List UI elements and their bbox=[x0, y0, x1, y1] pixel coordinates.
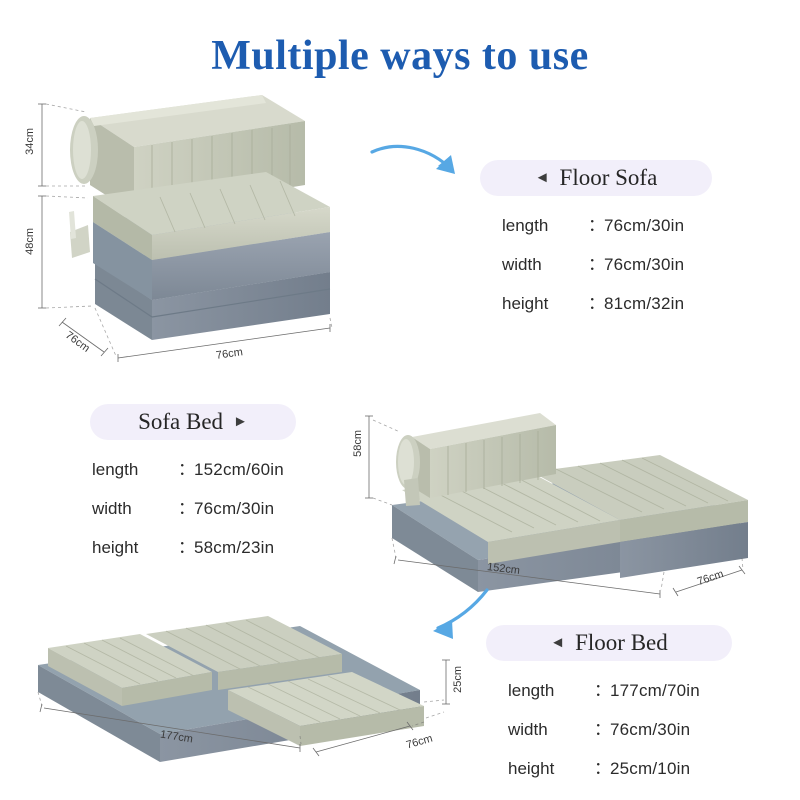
spec-row-length: length ： 177cm/70in bbox=[508, 669, 732, 708]
spec-row-width: width ： 76cm/30in bbox=[92, 487, 324, 526]
spec-row-width: width ： 76cm/30in bbox=[502, 243, 722, 282]
spec-label: height bbox=[92, 538, 178, 558]
spec-colon: ： bbox=[594, 715, 610, 740]
spec-card-floor-sofa-rows: length ： 76cm/30in width ： 76cm/30in hei… bbox=[480, 204, 730, 321]
spec-value: 58cm/23in bbox=[194, 538, 274, 558]
dim-floor-sofa-back-height: 34cm bbox=[24, 128, 36, 155]
spec-label: height bbox=[508, 759, 594, 779]
spec-card-floor-sofa: ◄ Floor Sofa length ： 76cm/30in width ： … bbox=[480, 160, 730, 321]
spec-colon: ： bbox=[594, 676, 610, 701]
spec-colon: ： bbox=[588, 211, 604, 236]
spec-card-sofa-bed-rows: length ： 152cm/60in width ： 76cm/30in he… bbox=[82, 448, 332, 565]
spec-row-height: height ： 25cm/10in bbox=[508, 747, 732, 786]
spec-row-width: width ： 76cm/30in bbox=[508, 708, 732, 747]
spec-card-floor-bed-rows: length ： 177cm/70in width ： 76cm/30in he… bbox=[486, 669, 740, 786]
spec-card-sofa-bed-header[interactable]: Sofa Bed ► bbox=[90, 404, 296, 440]
spec-row-height: height ： 81cm/32in bbox=[502, 282, 722, 321]
spec-label: width bbox=[92, 499, 178, 519]
floor-sofa-illustration bbox=[38, 95, 332, 362]
spec-label: length bbox=[508, 681, 594, 701]
floor-bed-illustration bbox=[38, 616, 450, 766]
spec-colon: ： bbox=[178, 455, 194, 480]
spec-colon: ： bbox=[178, 494, 194, 519]
spec-value: 25cm/10in bbox=[610, 759, 690, 779]
spec-card-sofa-bed-title: Sofa Bed bbox=[138, 409, 223, 435]
spec-row-length: length ： 76cm/30in bbox=[502, 204, 722, 243]
spec-row-length: length ： 152cm/60in bbox=[92, 448, 324, 487]
spec-label: width bbox=[508, 720, 594, 740]
spec-colon: ： bbox=[178, 533, 194, 558]
spec-colon: ： bbox=[588, 289, 604, 314]
poster-canvas: Multiple ways to use bbox=[0, 0, 800, 800]
arrow-to-floor-bed bbox=[433, 590, 487, 639]
spec-card-floor-sofa-title: Floor Sofa bbox=[560, 165, 658, 191]
spec-label: height bbox=[502, 294, 588, 314]
spec-card-floor-sofa-header[interactable]: ◄ Floor Sofa bbox=[480, 160, 712, 196]
spec-value: 76cm/30in bbox=[604, 216, 684, 236]
spec-value: 152cm/60in bbox=[194, 460, 284, 480]
spec-card-sofa-bed: Sofa Bed ► length ： 152cm/60in width ： 7… bbox=[82, 404, 332, 565]
spec-value: 76cm/30in bbox=[604, 255, 684, 275]
spec-card-floor-bed: ◄ Floor Bed length ： 177cm/70in width ： … bbox=[486, 625, 740, 786]
sofa-bed-illustration bbox=[365, 413, 748, 598]
spec-value: 177cm/70in bbox=[610, 681, 700, 701]
spec-row-height: height ： 58cm/23in bbox=[92, 526, 324, 565]
dim-sofa-bed-height: 58cm bbox=[352, 430, 364, 457]
spec-value: 76cm/30in bbox=[194, 499, 274, 519]
spec-label: length bbox=[92, 460, 178, 480]
spec-label: width bbox=[502, 255, 588, 275]
spec-colon: ： bbox=[588, 250, 604, 275]
triangle-left-icon: ◄ bbox=[550, 636, 565, 651]
spec-value: 76cm/30in bbox=[610, 720, 690, 740]
spec-colon: ： bbox=[594, 754, 610, 779]
dim-floor-bed-height: 25cm bbox=[452, 666, 464, 693]
spec-card-floor-bed-header[interactable]: ◄ Floor Bed bbox=[486, 625, 732, 661]
dim-floor-sofa-seat-height: 48cm bbox=[24, 228, 36, 255]
triangle-right-icon: ► bbox=[233, 415, 248, 430]
arrow-to-floor-sofa bbox=[372, 146, 455, 174]
spec-label: length bbox=[502, 216, 588, 236]
triangle-left-icon: ◄ bbox=[535, 171, 550, 186]
spec-value: 81cm/32in bbox=[604, 294, 684, 314]
spec-card-floor-bed-title: Floor Bed bbox=[575, 630, 668, 656]
